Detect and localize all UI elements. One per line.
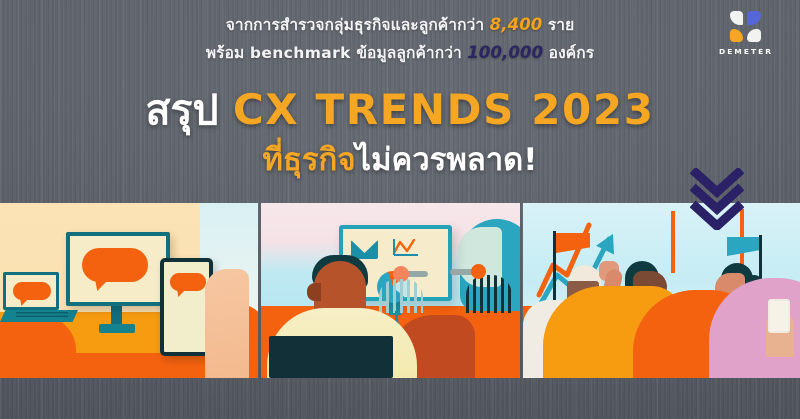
monitor-stand-icon: [111, 306, 122, 324]
title-line-2: ที่ธุรกิจไม่ควรพลาด!: [0, 138, 800, 182]
panel2-floor: [261, 306, 520, 378]
desktop-monitor-icon: [66, 232, 170, 306]
laptop-keyboard-icon: [16, 312, 68, 319]
subheadline-2-suffix: องค์กร: [543, 44, 594, 62]
title-line-2-white: ไม่ควรพลาด!: [356, 142, 538, 178]
person-b-face-shape: [715, 273, 745, 303]
person-a-face-shape: [633, 271, 667, 303]
analytics-monitor-icon: [339, 225, 452, 301]
laptop-screen-icon: [3, 272, 59, 310]
pie-chart-icon: [377, 271, 409, 303]
person-a-hair-shape: [625, 261, 659, 299]
brand-name: DEMETER: [714, 47, 776, 56]
envelope-icon: [351, 240, 378, 259]
subheadline-2-mid: ข้อมูลลูกค้ากว่า: [351, 44, 467, 62]
growth-arrows-group-icon: [523, 203, 800, 378]
panel2-background: [261, 203, 520, 378]
panel1-background-right: [200, 203, 258, 378]
chat-bubble-phone-icon: [170, 273, 206, 291]
panel3-orange-bar-1: [671, 211, 675, 273]
robot-figure-shape: [460, 219, 520, 311]
orange-flag-icon: [556, 233, 590, 253]
computer-mouse-icon: [429, 331, 463, 347]
demeter-quadrant-logo-icon: [730, 11, 761, 42]
teal-flag-icon: [727, 237, 759, 256]
desk-surface-shape: [269, 336, 393, 378]
tablet-icon: [567, 281, 599, 317]
panel2-knob-bar-1: [400, 271, 428, 277]
cx-trends-banner: DEMETER จากการสำรวจกลุ่มธุรกิจและลูกค้าก…: [0, 0, 800, 419]
panel2-knob-dot-2: [471, 264, 486, 279]
raised-arm-shape: [598, 268, 624, 313]
chat-bubble-monitor-icon: [82, 248, 148, 282]
person-ear-shape: [307, 283, 321, 301]
brand-logo[interactable]: DEMETER: [714, 11, 776, 56]
person-b-hair-bun-shape: [745, 275, 763, 293]
person-b-hair-shape: [721, 263, 753, 299]
line-chart-icon: [393, 239, 419, 256]
panel1-foreground-blob-left: [0, 316, 76, 364]
panel3-floor: [523, 324, 800, 378]
hand-holding-phone-right-shape: [766, 313, 794, 357]
page-title: สรุป CX TRENDS 2023 ที่ธุรกิจไม่ควรพลาด!: [0, 85, 800, 182]
raised-hand-shape: [599, 261, 619, 281]
chair-back-shape: [389, 315, 475, 378]
person-c-body-shape: [709, 278, 800, 378]
hand-finger-shape: [198, 281, 216, 341]
person-head-shape: [314, 261, 366, 323]
panel1-floor-shadow: [0, 353, 258, 378]
panel2-knob-dot-1: [393, 266, 409, 282]
panel3-background: [523, 203, 800, 378]
stat-organizations: 100,000: [467, 43, 543, 62]
subheadline-2-prefix: พร้อม: [206, 44, 250, 62]
illustration-strip: [0, 203, 800, 378]
person-d-body-shape: [523, 300, 579, 378]
subheadline-1-suffix: ราย: [542, 16, 574, 34]
person-body-shape: [267, 308, 417, 378]
logo-petal-bottom-right-icon: [747, 29, 761, 43]
robot-face-shape: [458, 227, 502, 287]
panel1-background: [0, 203, 258, 378]
logo-petal-bottom-left-icon: [730, 29, 744, 43]
laptop-base-icon: [0, 310, 78, 322]
stat-respondents: 8,400: [490, 15, 543, 34]
flag-pole-left: [553, 231, 556, 317]
logo-petal-top-left-icon: [730, 11, 744, 25]
subheadline-1-prefix: จากการสำรวจกลุ่มธุรกิจและลูกค้ากว่า: [226, 16, 490, 34]
chat-bubble-laptop-icon: [13, 282, 51, 300]
triple-chevron-down-icon: [690, 168, 744, 230]
panel3-foreground-orange-left: [523, 306, 561, 378]
crowd-with-flags-and-growth-arrows-illustration: [523, 203, 800, 378]
subheadline-block: จากการสำรวจกลุ่มธุรกิจและลูกค้ากว่า 8,40…: [0, 11, 800, 67]
panel2-floor-right: [424, 306, 520, 378]
flag-pole-right: [759, 235, 762, 313]
panel2-bar-fan-center: [379, 279, 423, 313]
panel2-bar-fan-right: [466, 275, 512, 313]
subheadline-2-latin: benchmark: [250, 44, 351, 62]
title-line-1: สรุป CX TRENDS 2023: [0, 85, 800, 135]
person-a-body-shape: [543, 286, 685, 378]
person-e-body-shape: [567, 290, 641, 378]
monitor-stand-icon: [389, 301, 401, 315]
title-line-2-gold: ที่ธุรกิจ: [263, 142, 356, 178]
hand-holding-phone-shape: [205, 269, 249, 378]
panel1-floor: [0, 312, 258, 378]
person-at-monitor-analytics-illustration: [261, 203, 520, 378]
person-hair-shape: [312, 255, 368, 289]
smartphone-right-icon: [768, 299, 790, 333]
subheadline-line-2: พร้อม benchmark ข้อมูลลูกค้ากว่า 100,000…: [0, 39, 800, 67]
person-b-body-shape: [633, 290, 761, 378]
smartphone-icon: [160, 258, 213, 356]
title-thai-prefix: สรุป: [145, 86, 218, 134]
subheadline-line-1: จากการสำรวจกลุ่มธุรกิจและลูกค้ากว่า 8,40…: [0, 11, 800, 39]
panel1-foreground-blob-right: [206, 304, 258, 356]
logo-petal-top-right-icon: [747, 11, 761, 25]
person-c-head-shape: [569, 265, 601, 299]
panel2-knob-bar-2: [450, 269, 476, 275]
devices-with-chat-bubbles-illustration: [0, 203, 258, 378]
mouse-cable-shape: [395, 311, 431, 337]
monitor-base-icon: [99, 324, 135, 333]
title-latin-main: CX TRENDS 2023: [233, 85, 655, 134]
